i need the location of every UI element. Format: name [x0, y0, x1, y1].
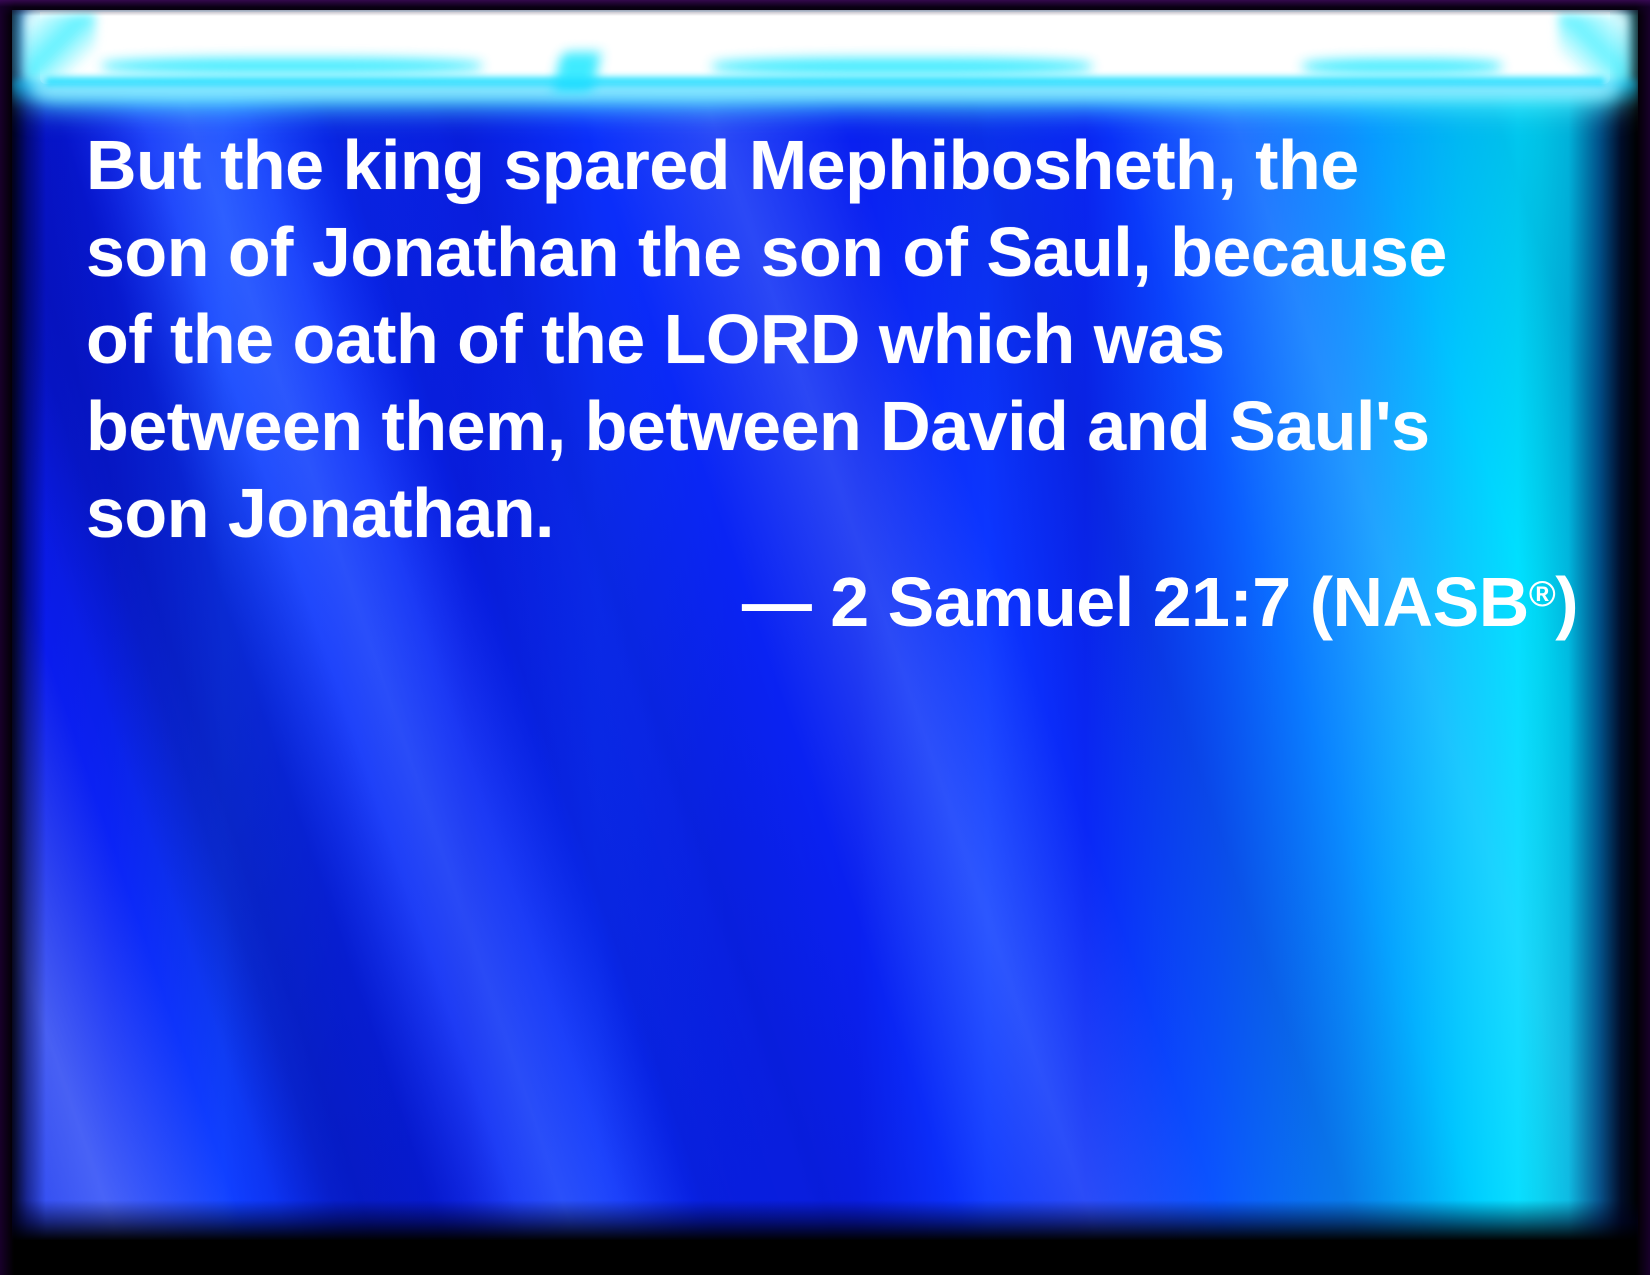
slide-canvas: But the king spared Mephibosheth, the so… [12, 10, 1638, 1240]
citation-translation: NASB [1333, 563, 1529, 641]
verse-line-3: of the oath of the LORD which was [86, 296, 1586, 383]
registered-trademark-icon: ® [1529, 573, 1555, 614]
verse-slide: But the king spared Mephibosheth, the so… [0, 0, 1650, 1275]
verse-line-1: But the king spared Mephibosheth, the [86, 122, 1586, 209]
citation-reference: 21:7 [1153, 563, 1291, 641]
verse-line-2: son of Jonathan the son of Saul, because [86, 209, 1586, 296]
verse-line-5: son Jonathan. [86, 470, 1586, 557]
verse-text-block: But the king spared Mephibosheth, the so… [86, 122, 1586, 557]
citation-book: 2 Samuel [830, 563, 1133, 641]
citation-close-paren: ) [1555, 563, 1578, 641]
verse-citation: — 2 Samuel 21:7 (NASB®) [86, 550, 1586, 646]
verse-line-4: between them, between David and Saul's [86, 383, 1586, 470]
citation-open-paren: ( [1310, 563, 1333, 641]
citation-dash: — [742, 563, 812, 641]
